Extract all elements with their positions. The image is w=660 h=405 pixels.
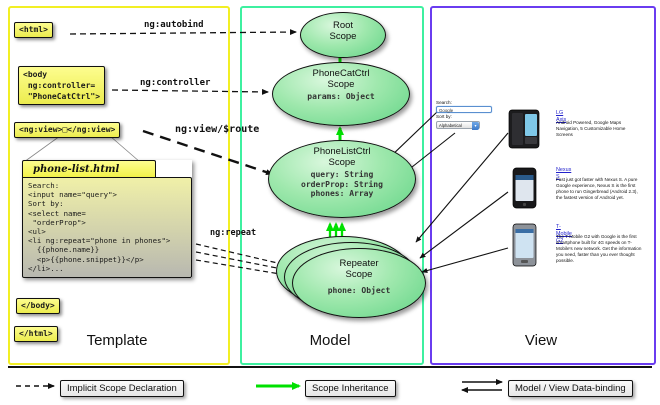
legend: Implicit Scope Declaration Scope Inherit… bbox=[0, 366, 660, 405]
chevron-down-icon: ▾ bbox=[472, 122, 479, 130]
phone-snippet-2: Fast just got faster with Nexus S. A pur… bbox=[556, 177, 642, 201]
tag-html-open: <html> bbox=[14, 22, 53, 38]
panel-label-model: Model bbox=[240, 332, 420, 349]
phone-snippet-1: Android Powered, Google Maps Navigation,… bbox=[556, 120, 642, 138]
tag-body-close: </body> bbox=[16, 298, 60, 314]
callout-title: phone-list.html bbox=[22, 160, 156, 177]
phone-list-html-callout: phone-list.html Search: <input name="que… bbox=[22, 160, 192, 278]
search-input[interactable]: Google bbox=[436, 106, 492, 113]
scope-phonecatctrl-title: PhoneCatCtrl Scope bbox=[312, 63, 369, 90]
phone-snippet-3: The T-Mobile G2 with Google is the first… bbox=[556, 234, 642, 264]
legend-item-data-binding: Model / View Data-binding bbox=[508, 380, 633, 397]
scope-repeater: Repeater Scope phone: Object bbox=[292, 248, 426, 318]
sort-select[interactable]: Alphabetical ▾ bbox=[436, 121, 480, 129]
diagram-canvas: Template Model View bbox=[0, 0, 660, 405]
scope-phonelistctrl-props: query: String orderProp: String phones: … bbox=[301, 170, 383, 199]
legend-item-implicit-scope-declaration: Implicit Scope Declaration bbox=[60, 380, 184, 397]
tag-ng-view: <ng:view>□</ng:view> bbox=[14, 122, 120, 138]
scope-repeater-title: Repeater Scope bbox=[339, 249, 378, 280]
edge-label-ng-repeat: ng:repeat bbox=[210, 228, 256, 238]
scope-phonelistctrl: PhoneListCtrl Scope query: String orderP… bbox=[268, 140, 416, 218]
panel-label-view: View bbox=[430, 332, 652, 349]
scope-phonecatctrl-props: params: Object bbox=[307, 92, 374, 102]
scope-phonelistctrl-title: PhoneListCtrl Scope bbox=[313, 141, 370, 168]
tag-body-open: <body ng:controller= "PhoneCatCtrl"> bbox=[18, 66, 105, 105]
view-search-form: Search: Google Sort by: Alphabetical ▾ bbox=[436, 100, 498, 129]
scope-root-title: Root Scope bbox=[330, 13, 357, 42]
scope-repeater-props: phone: Object bbox=[328, 286, 391, 296]
edge-label-ng-autobind: ng:autobind bbox=[144, 20, 204, 30]
legend-item-scope-inheritance: Scope Inheritance bbox=[305, 380, 396, 397]
sort-label: Sort by: bbox=[436, 114, 498, 120]
edge-label-ng-view-route: ng:view/$route bbox=[175, 124, 259, 135]
tag-html-close: </html> bbox=[14, 326, 58, 342]
legend-divider bbox=[8, 366, 652, 368]
scope-phonecatctrl: PhoneCatCtrl Scope params: Object bbox=[272, 62, 410, 126]
sort-select-value: Alphabetical bbox=[439, 123, 462, 128]
callout-code: Search: <input name="query"> Sort by: <s… bbox=[22, 177, 192, 278]
edge-label-ng-controller: ng:controller bbox=[140, 78, 210, 88]
scope-root: Root Scope bbox=[300, 12, 386, 58]
